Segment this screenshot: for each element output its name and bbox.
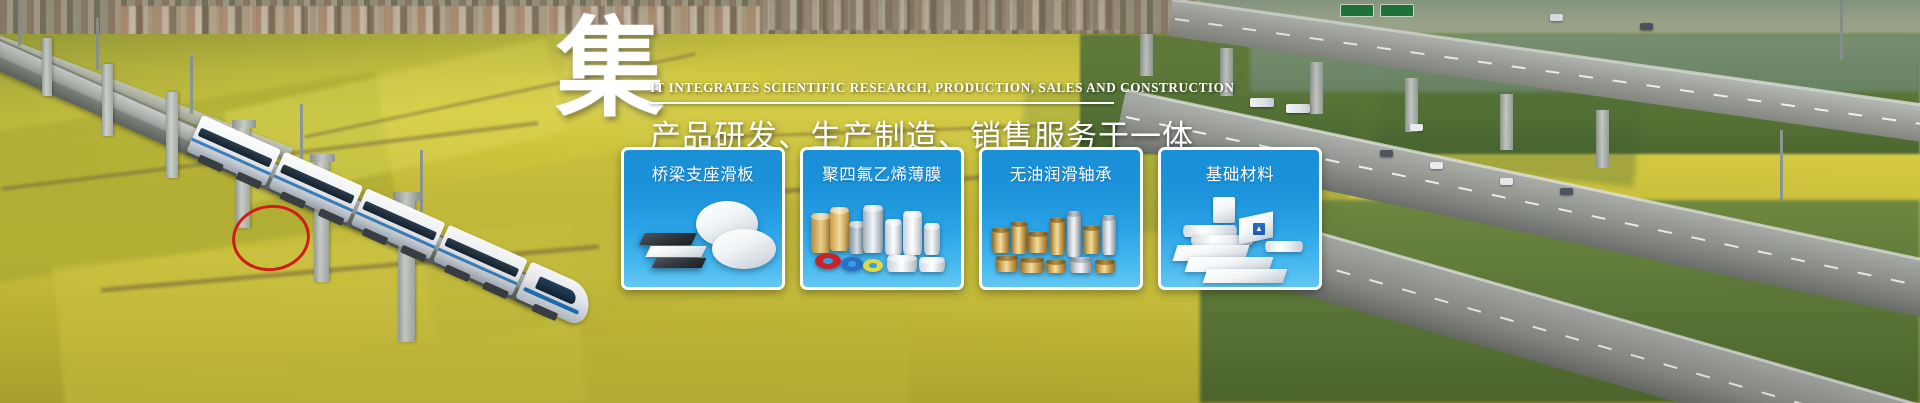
title-divider — [650, 102, 1114, 104]
product-card-title: 无油润滑轴承 — [982, 161, 1140, 185]
headline-character: 集 — [556, 16, 664, 124]
product-card-title: 聚四氟乙烯薄膜 — [803, 161, 961, 185]
hero-banner: 集 IT INTEGRATES SCIENTIFIC RESEARCH, PRO… — [0, 0, 1920, 403]
distant-town-right — [760, 0, 1120, 30]
product-card-ptfe-film[interactable]: 聚四氟乙烯薄膜 — [800, 147, 964, 290]
product-card-base-material[interactable]: 基础材料 ▲ — [1158, 147, 1322, 290]
headline-text-block: IT INTEGRATES SCIENTIFIC RESEARCH, PRODU… — [650, 62, 1130, 156]
slide-plates-image — [624, 191, 782, 287]
english-tagline: IT INTEGRATES SCIENTIFIC RESEARCH, PRODU… — [650, 80, 1130, 96]
product-card-list: 桥梁支座滑板 聚四氟乙烯薄膜 — [621, 147, 1322, 290]
product-card-title: 桥梁支座滑板 — [624, 161, 782, 185]
product-card-oil-free-bearing[interactable]: 无油润滑轴承 — [979, 147, 1143, 290]
base-materials-image: ▲ — [1161, 191, 1319, 287]
ptfe-film-rolls-image — [803, 191, 961, 287]
product-card-title: 基础材料 — [1161, 161, 1319, 185]
oil-free-bearings-image — [982, 191, 1140, 287]
product-card-bridge-bearing-slide-plate[interactable]: 桥梁支座滑板 — [621, 147, 785, 290]
